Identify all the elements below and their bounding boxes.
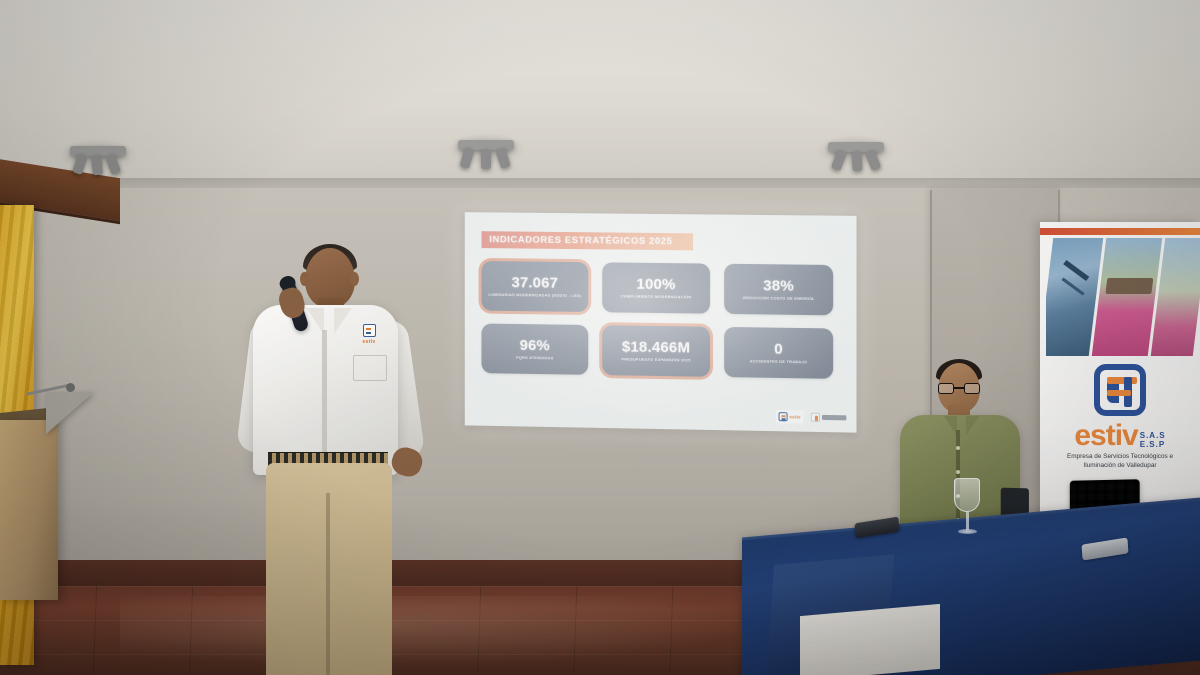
- kpi-value: 0: [774, 341, 783, 356]
- kpi-label: PRESUPUESTO EXPANSIÓN 2025: [621, 357, 690, 363]
- estiv-mark-icon: [1094, 364, 1146, 416]
- kpi-value: $18.466M: [622, 339, 690, 355]
- banner-tagline-line1: Empresa de Servicios Tecnológicos e: [1067, 453, 1173, 462]
- kpi-label: CUMPLIMIENTO MODERNIZACIÓN: [621, 294, 692, 300]
- banner-photo-park: [1092, 238, 1162, 356]
- banner-suffix-esp: E.S.P: [1140, 441, 1166, 449]
- banner-wordmark: estiv S.A.S E.S.P: [1074, 422, 1165, 449]
- spotlight-lamp: [91, 155, 103, 176]
- kpi-card: 100% CUMPLIMIENTO MODERNIZACIÓN: [602, 262, 710, 313]
- floor-reflection: [120, 596, 760, 666]
- banner-tagline: Empresa de Servicios Tecnológicos e Ilum…: [1067, 453, 1173, 470]
- slide-title-band: INDICADORES ESTRATÉGICOS 2025: [481, 231, 693, 250]
- spotlight-lamp: [481, 149, 491, 169]
- projection-screen: INDICADORES ESTRATÉGICOS 2025 37.067 LUM…: [465, 212, 857, 432]
- banner-tagline-line2: Iluminación de Valledupar: [1067, 462, 1173, 471]
- confidence-monitor: [46, 392, 94, 434]
- banner-brand-suffix: S.A.S E.S.P: [1140, 432, 1166, 449]
- slide-title: INDICADORES ESTRATÉGICOS 2025: [489, 234, 672, 247]
- mark-stroke-accent: [1107, 390, 1131, 396]
- kpi-value: 38%: [763, 278, 794, 293]
- kpi-card: 0 ACCIDENTES DE TRABAJO: [724, 327, 833, 379]
- speaker-shirt-brand: estiv: [363, 339, 376, 345]
- glasses-lens-right: [964, 383, 980, 394]
- kpi-label: ACCIDENTES DE TRABAJO: [750, 359, 807, 365]
- podium: [0, 420, 58, 600]
- speaker-shirt-estiv-logo: estiv: [358, 324, 380, 346]
- ceiling: [0, 0, 1200, 200]
- estiv-rollup-banner: estiv S.A.S E.S.P Empresa de Servicios T…: [1040, 222, 1200, 522]
- glass-bowl: [954, 478, 980, 512]
- banner-photo-collage: [1046, 238, 1200, 356]
- speaker-shirt-placket: [322, 330, 327, 470]
- banner-logo-block: estiv S.A.S E.S.P Empresa de Servicios T…: [1040, 364, 1200, 470]
- eyeglasses-icon: [938, 383, 980, 394]
- mark-stroke-accent: [1107, 377, 1137, 384]
- attendee-shirt-button: [956, 446, 960, 450]
- attendee-shirt-button: [956, 470, 960, 474]
- glasses-lens-left: [938, 383, 954, 394]
- slide-footer-brand: estiv: [789, 414, 800, 419]
- slide-footer-estiv-logo: estiv: [775, 410, 804, 424]
- kpi-card: 38% REDUCCIÓN COSTO DE ENERGÍA: [724, 264, 833, 316]
- wine-glass: [954, 478, 980, 538]
- banner-brand: estiv: [1074, 422, 1137, 449]
- speaker-shirt-pocket: [353, 355, 387, 381]
- attendee-collar-right: [966, 416, 979, 436]
- speaker-trousers: [266, 463, 392, 675]
- spotlight-lamp: [851, 151, 862, 172]
- glasses-bridge: [954, 387, 964, 389]
- kpi-label: PQRS ATENDIDAS: [516, 355, 553, 360]
- glass-stem: [966, 512, 969, 530]
- conference-room-scene: INDICADORES ESTRATÉGICOS 2025 37.067 LUM…: [0, 0, 1200, 675]
- tablecloth-white-panel: [800, 604, 940, 675]
- kpi-label: REDUCCIÓN COSTO DE ENERGÍA: [743, 296, 814, 302]
- kpi-value: 96%: [520, 338, 550, 353]
- speaker-collar-right: [334, 308, 352, 334]
- kpi-value: 37.067: [511, 275, 558, 290]
- slide-footer: estiv: [775, 410, 846, 424]
- kpi-value: 100%: [636, 276, 675, 291]
- kpi-card-grid: 37.067 LUMINARIAS MODERNIZADAS (SODIO - …: [481, 261, 839, 379]
- kpi-label: LUMINARIAS MODERNIZADAS (SODIO - LED): [488, 292, 581, 298]
- speaker-ear: [300, 272, 309, 286]
- glass-foot: [958, 529, 977, 534]
- slide: INDICADORES ESTRATÉGICOS 2025 37.067 LUM…: [465, 212, 857, 432]
- alcaldia-mark-icon: [811, 413, 820, 422]
- podium-microphone-icon: [66, 383, 75, 392]
- estiv-mark-icon: [363, 324, 376, 337]
- kpi-card: 96% PQRS ATENDIDAS: [481, 323, 588, 374]
- kpi-card: $18.466M PRESUPUESTO EXPANSIÓN 2025: [602, 325, 710, 377]
- slide-footer-secondary-logo: [811, 413, 846, 423]
- banner-top-bar: [1040, 228, 1200, 235]
- estiv-mark-icon: [778, 412, 787, 421]
- kpi-card: 37.067 LUMINARIAS MODERNIZADAS (SODIO - …: [481, 261, 588, 312]
- speaker-ear: [350, 272, 359, 286]
- alcaldia-wordmark: [822, 415, 846, 420]
